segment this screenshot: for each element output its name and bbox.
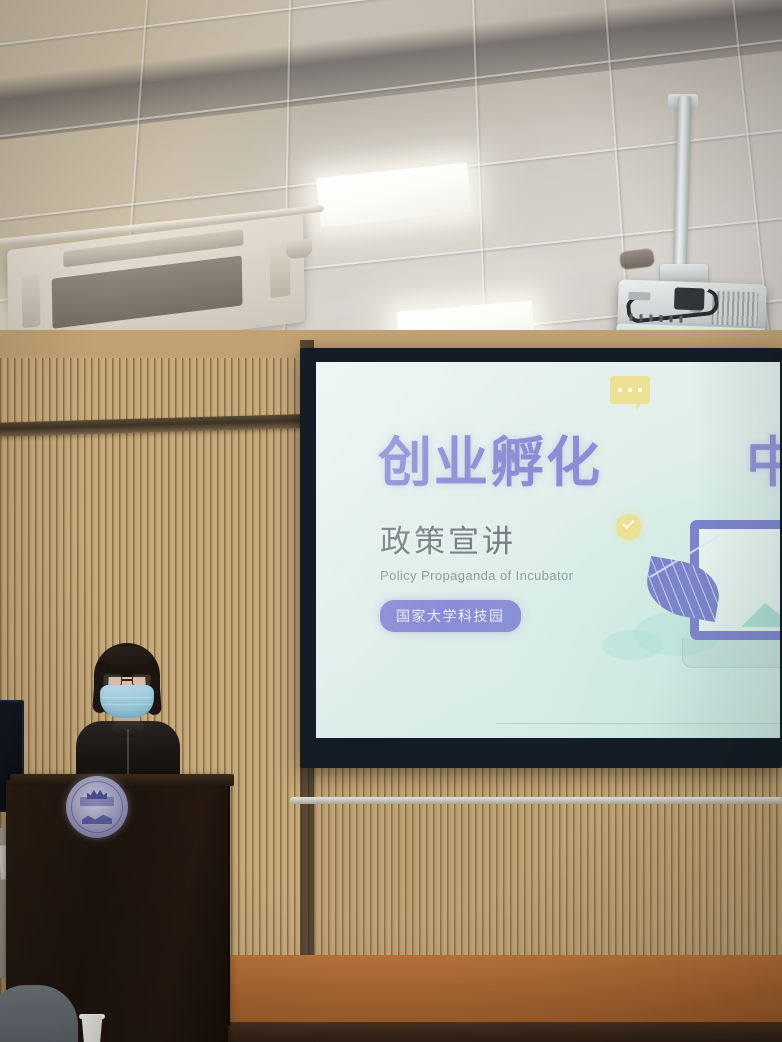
laptop-base xyxy=(682,638,780,668)
university-seal-icon xyxy=(66,776,128,838)
podium-top-surface xyxy=(10,774,234,786)
check-circle-icon xyxy=(616,514,642,540)
ceiling-speaker-icon xyxy=(619,248,655,270)
speech-bubble-icon xyxy=(610,376,650,404)
paper-cup xyxy=(80,1015,104,1042)
slide-subtitle: 政策宣讲 xyxy=(380,516,516,561)
stage-floor-edge xyxy=(182,1022,782,1042)
conference-room-photo: 创业孵化 中 政策宣讲 Policy Propaganda of Incubat… xyxy=(0,0,782,1042)
presenter xyxy=(72,643,184,793)
slide-title-clipped-char: 中 xyxy=(746,418,780,497)
wall-slat-panel-right xyxy=(314,760,782,960)
smoke-detector-icon xyxy=(286,239,312,260)
screen-bottom-rail xyxy=(290,797,782,804)
leaf-icon xyxy=(642,556,724,622)
face-mask-icon xyxy=(100,685,154,718)
projection-screen: 创业孵化 中 政策宣讲 Policy Propaganda of Incubat… xyxy=(300,348,782,768)
presentation-slide: 创业孵化 中 政策宣讲 Policy Propaganda of Incubat… xyxy=(316,362,780,738)
cloud-shape xyxy=(602,630,662,660)
slide-title: 创业孵化 xyxy=(378,418,602,497)
slide-divider-line xyxy=(496,723,780,724)
ceiling-panel-light xyxy=(316,162,472,228)
slide-english-subtitle: Policy Propaganda of Incubator xyxy=(380,568,573,583)
slide-organization-badge: 国家大学科技园 xyxy=(380,600,521,632)
